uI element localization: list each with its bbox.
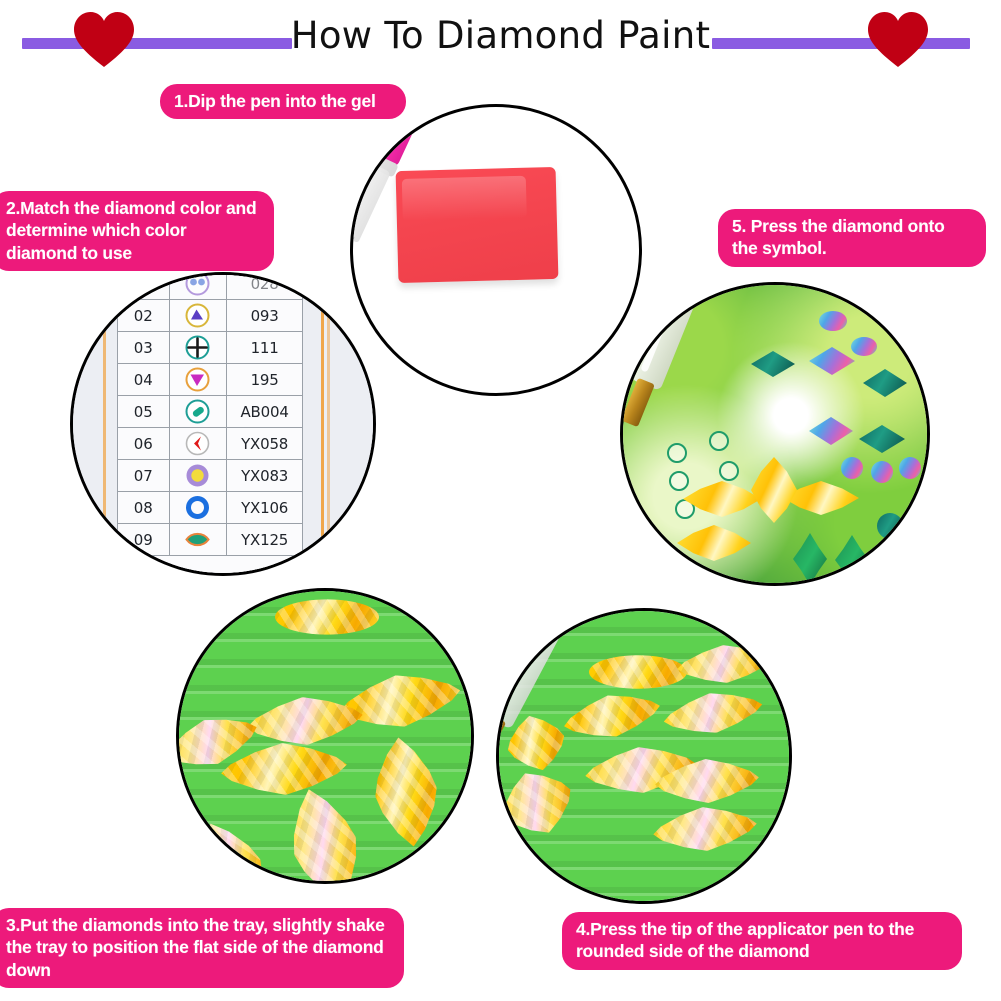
table-row: 01 028 [118,272,303,300]
cell-code: 093 [227,300,303,332]
gel-pad [396,167,559,283]
cell-symbol [169,272,227,300]
plus-cross-icon [184,334,211,361]
cell-number: 01 [118,272,170,300]
diamond-gem [851,337,877,356]
diamond-gem [819,311,847,331]
step-4-photo [496,608,792,904]
canvas-symbol [709,431,729,451]
green-leaf-icon [184,526,211,553]
cell-code: 111 [227,332,303,364]
step-1-photo [350,104,642,396]
diamond-gem [899,457,921,479]
diamond-gem-highlighted [751,457,797,523]
diamond-gem [841,457,863,479]
sheet-edge-stripe [321,272,324,576]
cell-number: 06 [118,428,170,460]
cell-symbol [169,524,227,556]
cell-symbol [169,428,227,460]
pen-tip [621,378,655,427]
cell-number: 03 [118,332,170,364]
slanted-capsule-icon [184,398,211,425]
table-row: 03 111 [118,332,303,364]
diamond-gem [871,461,893,483]
step-4-label: 4.Press the tip of the applicator pen to… [562,912,962,970]
cell-number: 04 [118,364,170,396]
diamond-gem [677,525,751,561]
sheet-edge-stripe [327,272,330,576]
table-row: 08 YX106 [118,492,303,524]
step-3-photo [176,588,474,884]
step-5-label: 5. Press the diamond onto the symbol. [718,209,986,267]
cell-code: YX106 [227,492,303,524]
pen-body [350,155,391,243]
blue-ring-icon [184,494,211,521]
cell-number: 08 [118,492,170,524]
page-header: How To Diamond Paint [0,0,1001,80]
cell-symbol [169,492,227,524]
page-title: How To Diamond Paint [0,14,1001,57]
sheet-edge-stripe [103,272,106,576]
cell-symbol [169,396,227,428]
table-row: 09 YX125 [118,524,303,556]
diamond-gem [877,513,903,539]
diamond-gem [683,481,761,517]
cell-number: 07 [118,460,170,492]
cell-symbol [169,332,227,364]
step-5-photo [620,282,930,586]
double-dot-icon [184,272,211,297]
cell-symbol [169,300,227,332]
red-chevron-icon [184,430,211,457]
cell-code: YX125 [227,524,303,556]
yellow-disc-icon [184,462,211,489]
step-2-photo: 01 028 02 093 03 [70,272,376,576]
filled-triangle-icon [184,302,211,329]
table-row: 07 YX083 [118,460,303,492]
canvas-symbol [719,461,739,481]
cell-code: YX083 [227,460,303,492]
cell-code: YX058 [227,428,303,460]
canvas-symbol [667,443,687,463]
cell-code: 195 [227,364,303,396]
cell-number: 09 [118,524,170,556]
cell-number: 05 [118,396,170,428]
table-row: 02 093 [118,300,303,332]
cell-symbol [169,460,227,492]
color-code-table: 01 028 02 093 03 [117,272,303,556]
table-row: 06 YX058 [118,428,303,460]
cell-code: AB004 [227,396,303,428]
cell-number: 02 [118,300,170,332]
magenta-triangle-icon [184,366,211,393]
cell-symbol [169,364,227,396]
cell-code: 028 [227,272,303,300]
canvas-symbol [669,471,689,491]
step-2-label: 2.Match the diamond color and determine … [0,191,274,271]
table-row: 05 AB004 [118,396,303,428]
table-row: 04 195 [118,364,303,396]
step-3-label: 3.Put the diamonds into the tray, slight… [0,908,404,988]
